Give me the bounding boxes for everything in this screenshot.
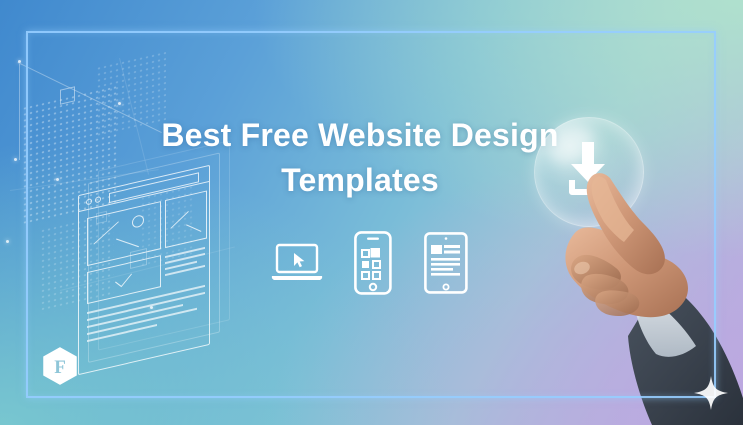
wireframe-mountain xyxy=(186,224,201,232)
connector-line xyxy=(18,62,162,133)
headline-line-1: Best Free Website Design xyxy=(150,113,570,158)
wireframe-text-line xyxy=(165,247,205,258)
accent-square xyxy=(130,248,147,269)
smartphone-icon xyxy=(354,231,392,295)
connector-line xyxy=(19,64,20,160)
node-dot xyxy=(150,306,153,309)
node-dot xyxy=(56,178,59,181)
sparkle-icon xyxy=(694,376,728,410)
wireframe-text-line xyxy=(87,308,197,335)
connector-line xyxy=(60,246,235,291)
wireframe-dot xyxy=(95,196,101,203)
node-dot xyxy=(118,102,121,105)
laptop-icon xyxy=(270,242,324,284)
page-title: Best Free Website Design Templates xyxy=(150,113,570,203)
wireframe-text-line xyxy=(87,292,205,321)
accent-square xyxy=(60,86,75,104)
check-icon xyxy=(115,269,132,287)
wireframe-image-block xyxy=(87,201,161,266)
accent-square xyxy=(96,211,107,225)
device-icon-row xyxy=(265,228,480,298)
wireframe-mountain xyxy=(93,221,118,244)
wireframe-text-line xyxy=(165,261,197,270)
wireframe-text-line xyxy=(165,265,205,276)
connector-line xyxy=(119,58,149,175)
wireframe-text-line xyxy=(87,304,183,328)
wireframe-text-line xyxy=(87,324,157,342)
dot-grid xyxy=(40,211,114,314)
wireframe-check-block xyxy=(87,255,161,304)
wireframe-mountain xyxy=(170,211,188,229)
banner: Best Free Website Design Templates xyxy=(0,0,743,425)
wireframe-mountain xyxy=(116,238,139,247)
node-dot xyxy=(14,158,17,161)
wireframe-text-line xyxy=(87,285,205,314)
node-dot xyxy=(18,60,21,63)
connector-line xyxy=(10,169,159,191)
logo[interactable]: F xyxy=(42,347,78,385)
wireframe-dot xyxy=(86,198,92,205)
logo-letter: F xyxy=(54,357,66,378)
dot-grid xyxy=(22,84,118,226)
download-icon[interactable] xyxy=(560,140,616,202)
node-dot xyxy=(6,240,9,243)
wireframe-sun xyxy=(132,214,144,229)
tablet-icon xyxy=(424,232,468,294)
tech-decoration xyxy=(0,40,290,370)
headline-line-2: Templates xyxy=(150,158,570,203)
wireframe-text-line xyxy=(165,253,205,264)
